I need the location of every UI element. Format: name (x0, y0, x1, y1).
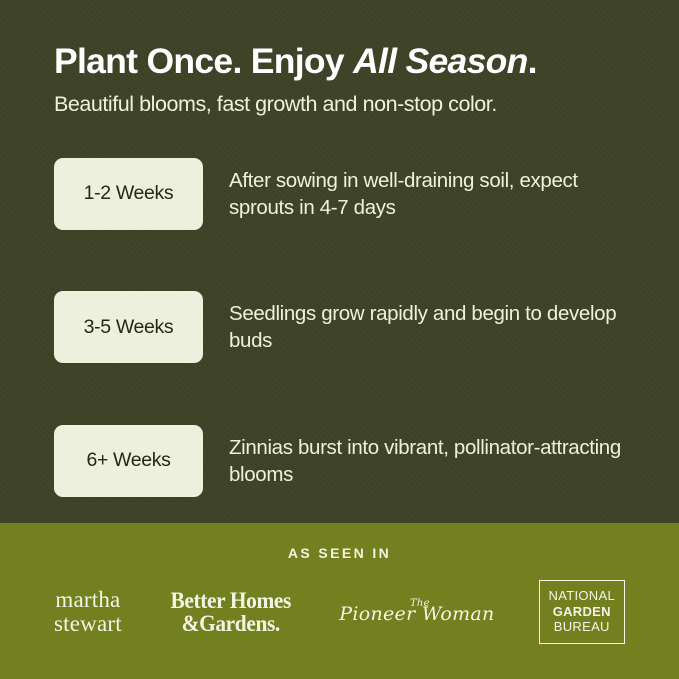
stage-description: Seedlings grow rapidly and begin to deve… (229, 300, 625, 355)
national-garden-bureau-logo-line1: NATIONAL (549, 588, 615, 604)
national-garden-bureau-logo-line2: GARDEN (553, 604, 611, 620)
better-homes-and-gardens-logo-line1: Better Homes (170, 589, 290, 612)
martha-stewart-logo-line1: martha (55, 588, 120, 611)
national-garden-bureau-logo: NATIONAL GARDEN BUREAU (539, 580, 625, 644)
page-title: Plant Once. Enjoy All Season. (54, 0, 625, 82)
press-logo-row: martha stewart Better Homes &Gardens. Th… (40, 580, 639, 644)
stage-badge-2: 3-5 Weeks (54, 291, 203, 363)
headline-emphasis: All Season (353, 41, 528, 81)
timeline-row: 6+ Weeks Zinnias burst into vibrant, pol… (54, 413, 625, 509)
timeline-row: 1-2 Weeks After sowing in well-draining … (54, 146, 625, 242)
stage-badge-label: 1-2 Weeks (84, 184, 174, 204)
the-pioneer-woman-logo: The Pioneer Woman (339, 599, 494, 625)
the-pioneer-woman-logo-line2: Pioneer Woman (339, 605, 494, 625)
stage-description: After sowing in well-draining soil, expe… (229, 167, 625, 222)
stage-description: Zinnias burst into vibrant, pollinator-a… (229, 434, 625, 489)
martha-stewart-logo-line2: stewart (54, 612, 122, 635)
better-homes-and-gardens-logo: Better Homes &Gardens. (170, 589, 290, 635)
growth-timeline-list: 1-2 Weeks After sowing in well-draining … (54, 146, 625, 509)
stage-badge-1: 1-2 Weeks (54, 158, 203, 230)
headline-text-leading: Plant Once. Enjoy (54, 41, 353, 81)
timeline-row: 3-5 Weeks Seedlings grow rapidly and beg… (54, 280, 625, 376)
as-seen-in-footer: AS SEEN IN martha stewart Better Homes &… (0, 523, 679, 679)
hero-panel: Plant Once. Enjoy All Season. Beautiful … (0, 0, 679, 523)
better-homes-and-gardens-logo-line2: &Gardens. (181, 612, 279, 635)
stage-badge-label: 3-5 Weeks (84, 318, 174, 338)
martha-stewart-logo: martha stewart (54, 588, 122, 635)
zinnia-growth-timeline-infographic: Plant Once. Enjoy All Season. Beautiful … (0, 0, 679, 679)
headline-text-trailing: . (528, 41, 537, 81)
national-garden-bureau-logo-line3: BUREAU (554, 619, 610, 635)
stage-badge-3: 6+ Weeks (54, 425, 203, 497)
page-subtitle: Beautiful blooms, fast growth and non-st… (54, 82, 625, 119)
as-seen-in-label: AS SEEN IN (288, 545, 391, 561)
stage-badge-label: 6+ Weeks (86, 451, 170, 471)
